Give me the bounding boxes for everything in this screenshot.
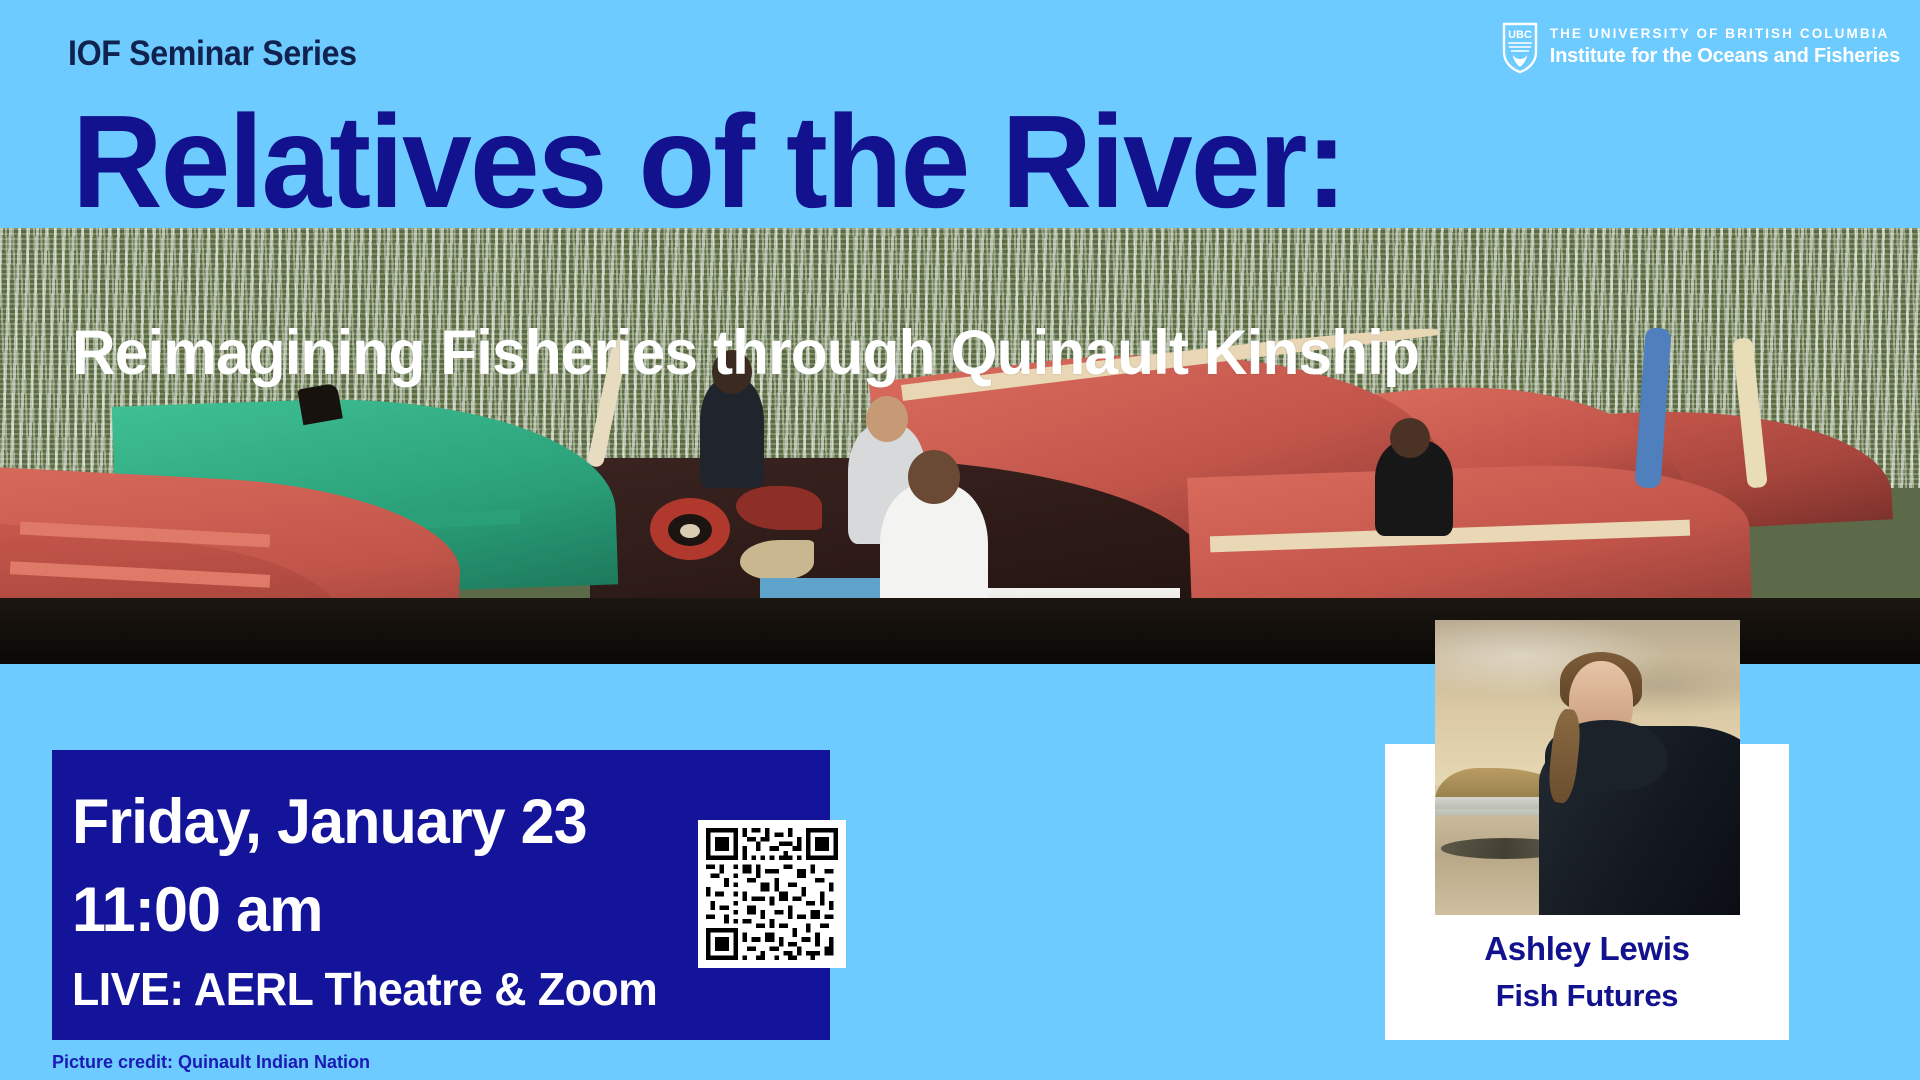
person-dark-top xyxy=(700,378,764,488)
poster-title-line1: Relatives of the River: xyxy=(72,96,1345,228)
canoe-green-bow-tip xyxy=(297,383,343,425)
ubc-institute-line: Institute for the Oceans and Fisheries xyxy=(1550,45,1900,68)
ubc-university-line: THE UNIVERSITY OF BRITISH COLUMBIA xyxy=(1550,26,1900,41)
qr-code-icon xyxy=(706,828,838,960)
person-right-paddler-head xyxy=(1390,418,1430,458)
poster-title-line2: Reimagining Fisheries through Quinault K… xyxy=(72,317,1419,389)
event-time: 11:00 am xyxy=(72,874,322,946)
ubc-logo: UBC THE UNIVERSITY OF BRITISH COLUMBIA I… xyxy=(1502,22,1900,74)
canoe-photo xyxy=(0,228,1920,664)
picture-credit: Picture credit: Quinault Indian Nation xyxy=(52,1052,370,1073)
qr-code[interactable] xyxy=(698,820,846,968)
ubc-shield-icon: UBC xyxy=(1502,22,1538,74)
speaker-affiliation: Fish Futures xyxy=(1385,978,1789,1014)
person-grey-hoodie-head xyxy=(866,396,908,442)
event-date: Friday, January 23 xyxy=(72,786,587,858)
person-white-hoodie-head xyxy=(908,450,960,504)
event-venue: LIVE: AERL Theatre & Zoom xyxy=(72,962,657,1016)
speaker-name: Ashley Lewis xyxy=(1385,930,1789,968)
svg-text:UBC: UBC xyxy=(1508,29,1532,41)
series-title: IOF Seminar Series xyxy=(68,34,357,74)
speaker-photo xyxy=(1435,620,1740,915)
seminar-poster: IOF Seminar Series UBC THE UNIVERSITY OF… xyxy=(0,0,1920,1080)
